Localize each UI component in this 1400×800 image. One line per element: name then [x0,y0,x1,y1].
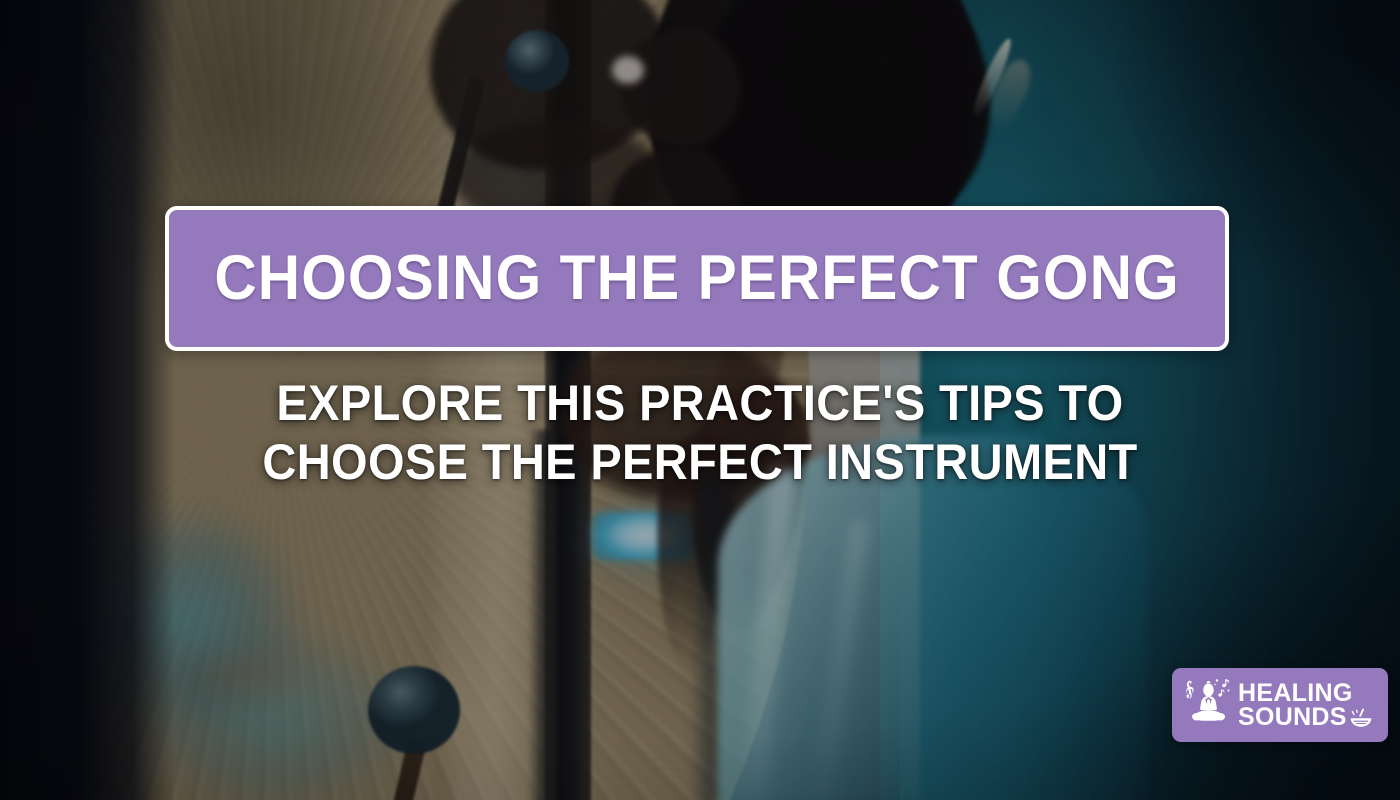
logo-wordmark: HEALING SOUNDS [1238,681,1373,730]
promo-banner: CHOOSING THE PERFECT GONG EXPLORE THIS P… [0,0,1400,800]
logo-line-2-row: SOUNDS [1238,705,1373,729]
meditating-figure-icon [1181,677,1235,733]
healing-sounds-logo-badge[interactable]: HEALING SOUNDS [1172,668,1388,742]
logo-text-healing: HEALING [1238,681,1373,705]
banner-subtitle-line-2: CHOOSE THE PERFECT INSTRUMENT [42,433,1358,492]
logo-text-sounds: SOUNDS [1238,705,1347,729]
title-banner-box: CHOOSING THE PERFECT GONG [165,206,1229,351]
singing-bowl-icon [1349,708,1373,728]
treble-clef-icon [1186,681,1194,699]
music-note-icon [1214,679,1229,696]
banner-subtitle: EXPLORE THIS PRACTICE'S TIPS TO CHOOSE T… [0,374,1400,491]
banner-subtitle-line-1: EXPLORE THIS PRACTICE'S TIPS TO [42,374,1358,433]
banner-title: CHOOSING THE PERFECT GONG [214,247,1179,310]
